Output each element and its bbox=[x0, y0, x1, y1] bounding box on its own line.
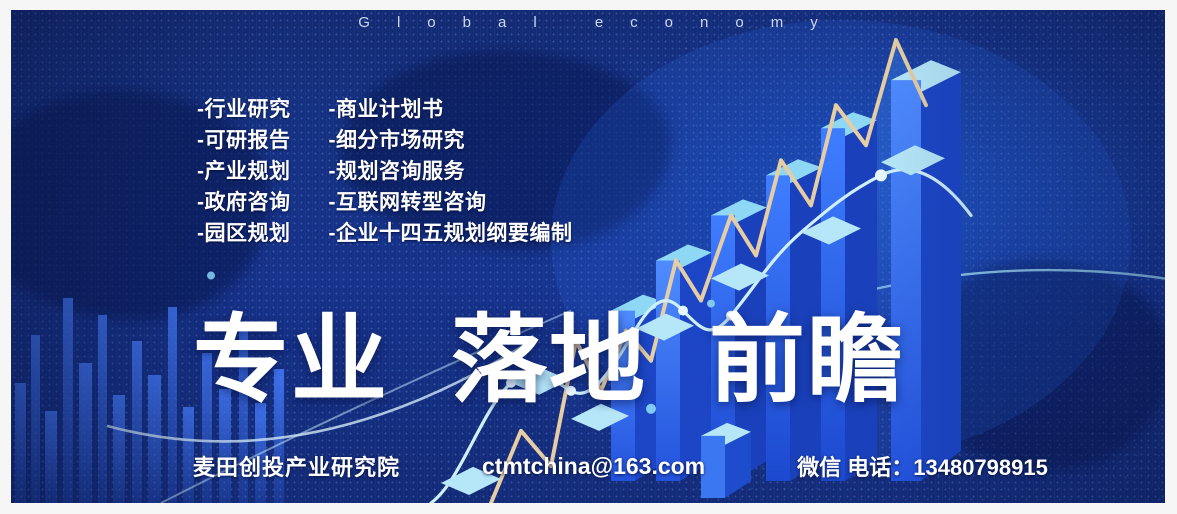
service-item: -产业规划 bbox=[197, 158, 291, 185]
headline-part-2: 落地 bbox=[451, 313, 647, 409]
service-item: -行业研究 bbox=[197, 96, 291, 123]
service-lists: -行业研究 -可研报告 -产业规划 -政府咨询 -园区规划 -商业计划书 -细分… bbox=[197, 96, 573, 247]
headline-part-3: 前瞻 bbox=[709, 313, 905, 409]
service-item: -政府咨询 bbox=[197, 189, 291, 216]
service-column-right: -商业计划书 -细分市场研究 -规划咨询服务 -互联网转型咨询 -企业十四五规划… bbox=[329, 96, 573, 247]
service-item: -规划咨询服务 bbox=[329, 158, 573, 185]
service-item: -细分市场研究 bbox=[329, 127, 573, 154]
headline-part-1: 专业 bbox=[193, 313, 389, 409]
bar-6 bbox=[891, 60, 961, 481]
footer-contact-row: 麦田创投产业研究院 ctmtchina@163.com 微信 电话：134807… bbox=[193, 450, 1048, 482]
chart-graphic bbox=[11, 10, 1165, 503]
service-item: -互联网转型咨询 bbox=[329, 189, 573, 216]
organization-name: 麦田创投产业研究院 bbox=[193, 450, 400, 482]
service-column-left: -行业研究 -可研报告 -产业规划 -政府咨询 -园区规划 bbox=[197, 96, 291, 247]
phone-number: 微信 电话：13480798915 bbox=[797, 450, 1048, 482]
service-item: -可研报告 bbox=[197, 127, 291, 154]
headline: 专业 落地 前瞻 bbox=[193, 313, 905, 409]
service-item: -园区规划 bbox=[197, 220, 291, 247]
header-word: Global economy bbox=[11, 14, 1165, 31]
service-item: -企业十四五规划纲要编制 bbox=[329, 220, 573, 247]
bar-5 bbox=[821, 112, 877, 481]
banner-stage: Global economy -行业研究 -可研报告 -产业规划 -政府咨询 -… bbox=[11, 10, 1165, 503]
banner-root: Global economy -行业研究 -可研报告 -产业规划 -政府咨询 -… bbox=[0, 0, 1177, 514]
email-address: ctmtchina@163.com bbox=[482, 453, 705, 480]
chart-svg bbox=[11, 10, 1165, 503]
service-item: -商业计划书 bbox=[329, 96, 573, 123]
